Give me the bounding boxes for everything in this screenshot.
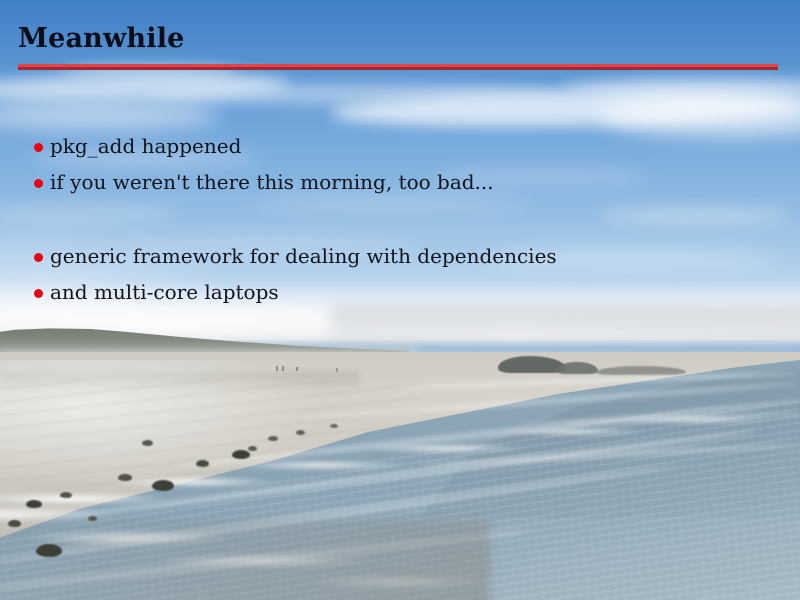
presentation-slide: Meanwhile pkg_add happened if you weren'… [0,0,800,600]
list-item: and multi-core laptops [34,274,774,310]
list-item-label: generic framework for dealing with depen… [50,244,557,268]
list-item: generic framework for dealing with depen… [34,238,774,274]
list-item-label: pkg_add happened [50,134,241,158]
bullet-dot-icon [34,289,43,298]
divider-shadow [18,67,778,70]
list-spacer [34,200,774,238]
list-item-label: if you weren't there this morning, too b… [50,170,494,194]
slide-content: Meanwhile pkg_add happened if you weren'… [0,0,800,600]
bullet-dot-icon [34,253,43,262]
bullet-dot-icon [34,143,43,152]
bullet-list: pkg_add happened if you weren't there th… [34,128,774,310]
title-divider-rule [18,64,778,70]
bullet-dot-icon [34,179,43,188]
list-item: pkg_add happened [34,128,774,164]
slide-title: Meanwhile [18,22,185,56]
list-item: if you weren't there this morning, too b… [34,164,774,200]
list-item-label: and multi-core laptops [50,280,279,304]
